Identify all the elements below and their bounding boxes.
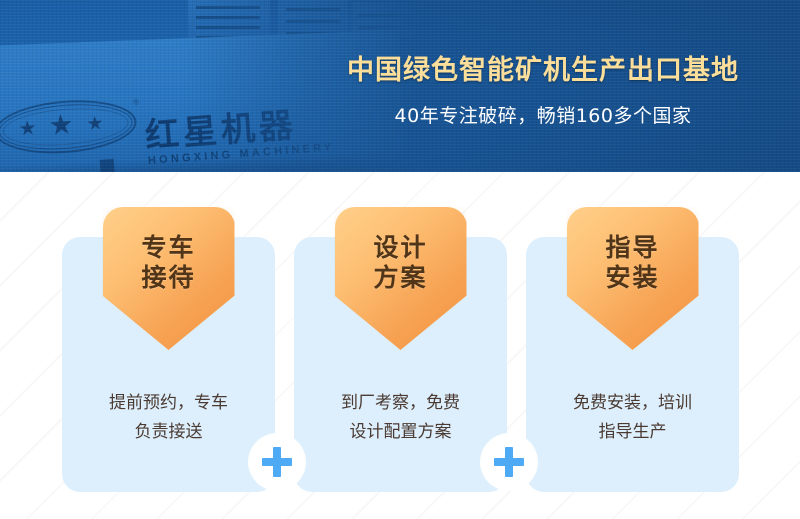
plus-connector-icon xyxy=(248,433,306,491)
banner-subheadline: 40年专注破碎，畅销160多个国家 xyxy=(308,101,778,128)
service-card-badge: 设计 方案 xyxy=(335,207,467,350)
service-card-description: 提前预约，专车 负责接送 xyxy=(62,389,275,447)
service-card-badge-text: 专车 接待 xyxy=(103,207,235,350)
service-card-badge-text: 指导 安装 xyxy=(567,207,699,350)
service-card-desc-line: 提前预约，专车 xyxy=(62,389,275,418)
service-card[interactable]: 提前预约，专车 负责接送 专车 接待 xyxy=(62,237,275,492)
service-card-list: 提前预约，专车 负责接送 专车 接待 到厂考察，免费 设计配置方案 xyxy=(0,172,800,519)
hero-banner: ★ ★ ★ ® 红星机器 HONGXING MACHINERY 中国绿色智能矿机… xyxy=(0,0,800,172)
service-card-description: 到厂考察，免费 设计配置方案 xyxy=(294,389,507,447)
badge-line: 接待 xyxy=(141,263,195,293)
service-card[interactable]: 免费安装，培训 指导生产 指导 安装 xyxy=(526,237,739,492)
badge-line: 指导 xyxy=(605,233,659,263)
service-card-badge: 专车 接待 xyxy=(103,207,235,350)
service-card-description: 免费安装，培训 指导生产 xyxy=(526,389,739,447)
plus-connector-icon xyxy=(480,433,538,491)
plus-bar-vertical xyxy=(505,447,513,477)
service-card-desc-line: 免费安装，培训 xyxy=(526,389,739,418)
service-card-desc-line: 到厂考察，免费 xyxy=(294,389,507,418)
banner-headline: 中国绿色智能矿机生产出口基地 xyxy=(308,48,778,87)
badge-line: 安装 xyxy=(605,263,659,293)
promo-page: ★ ★ ★ ® 红星机器 HONGXING MACHINERY 中国绿色智能矿机… xyxy=(0,0,800,519)
service-card-desc-line: 设计配置方案 xyxy=(294,418,507,447)
service-card-desc-line: 负责接送 xyxy=(62,418,275,447)
badge-line: 方案 xyxy=(373,263,427,293)
badge-line: 设计 xyxy=(373,233,427,263)
service-card[interactable]: 到厂考察，免费 设计配置方案 设计 方案 xyxy=(294,237,507,492)
service-card-badge-text: 设计 方案 xyxy=(335,207,467,350)
banner-text-block: 中国绿色智能矿机生产出口基地 40年专注破碎，畅销160多个国家 xyxy=(308,0,778,128)
service-card-desc-line: 指导生产 xyxy=(526,418,739,447)
service-card-badge: 指导 安装 xyxy=(567,207,699,350)
badge-line: 专车 xyxy=(141,233,195,263)
plus-bar-vertical xyxy=(273,447,281,477)
service-section: 提前预约，专车 负责接送 专车 接待 到厂考察，免费 设计配置方案 xyxy=(0,172,800,519)
